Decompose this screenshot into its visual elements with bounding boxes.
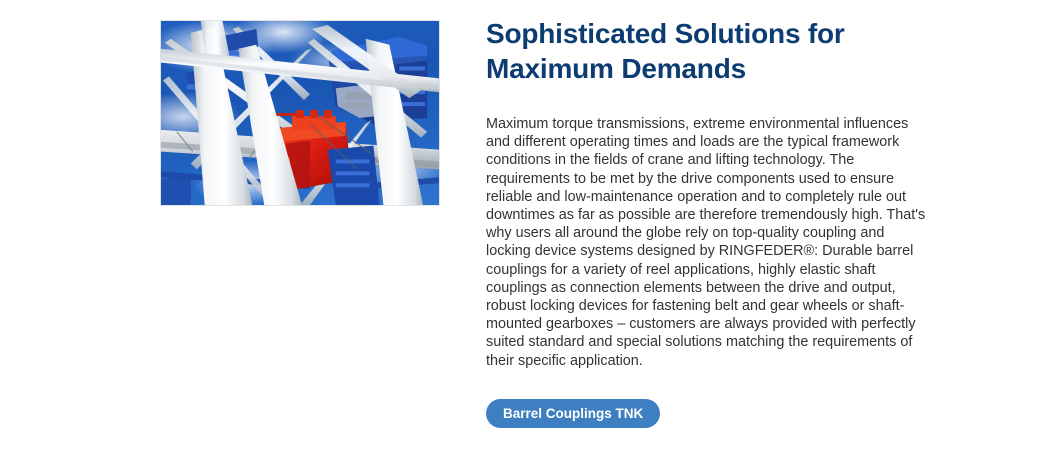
photo-scene: [161, 21, 439, 205]
barrel-couplings-tnk-button[interactable]: Barrel Couplings TNK: [486, 399, 660, 428]
page-title: Sophisticated Solutions for Maximum Dema…: [486, 16, 928, 86]
crane-photo: [160, 20, 440, 206]
blue-hoist-cage: [328, 146, 380, 205]
crane-structure-illustration: [161, 21, 439, 205]
body-paragraph: Maximum torque transmissions, extreme en…: [486, 86, 928, 370]
media-column: [160, 20, 440, 206]
text-column: Sophisticated Solutions for Maximum Dema…: [486, 16, 928, 370]
cta-row: Barrel Couplings TNK: [486, 399, 660, 428]
content-section: Sophisticated Solutions for Maximum Dema…: [0, 0, 1050, 457]
